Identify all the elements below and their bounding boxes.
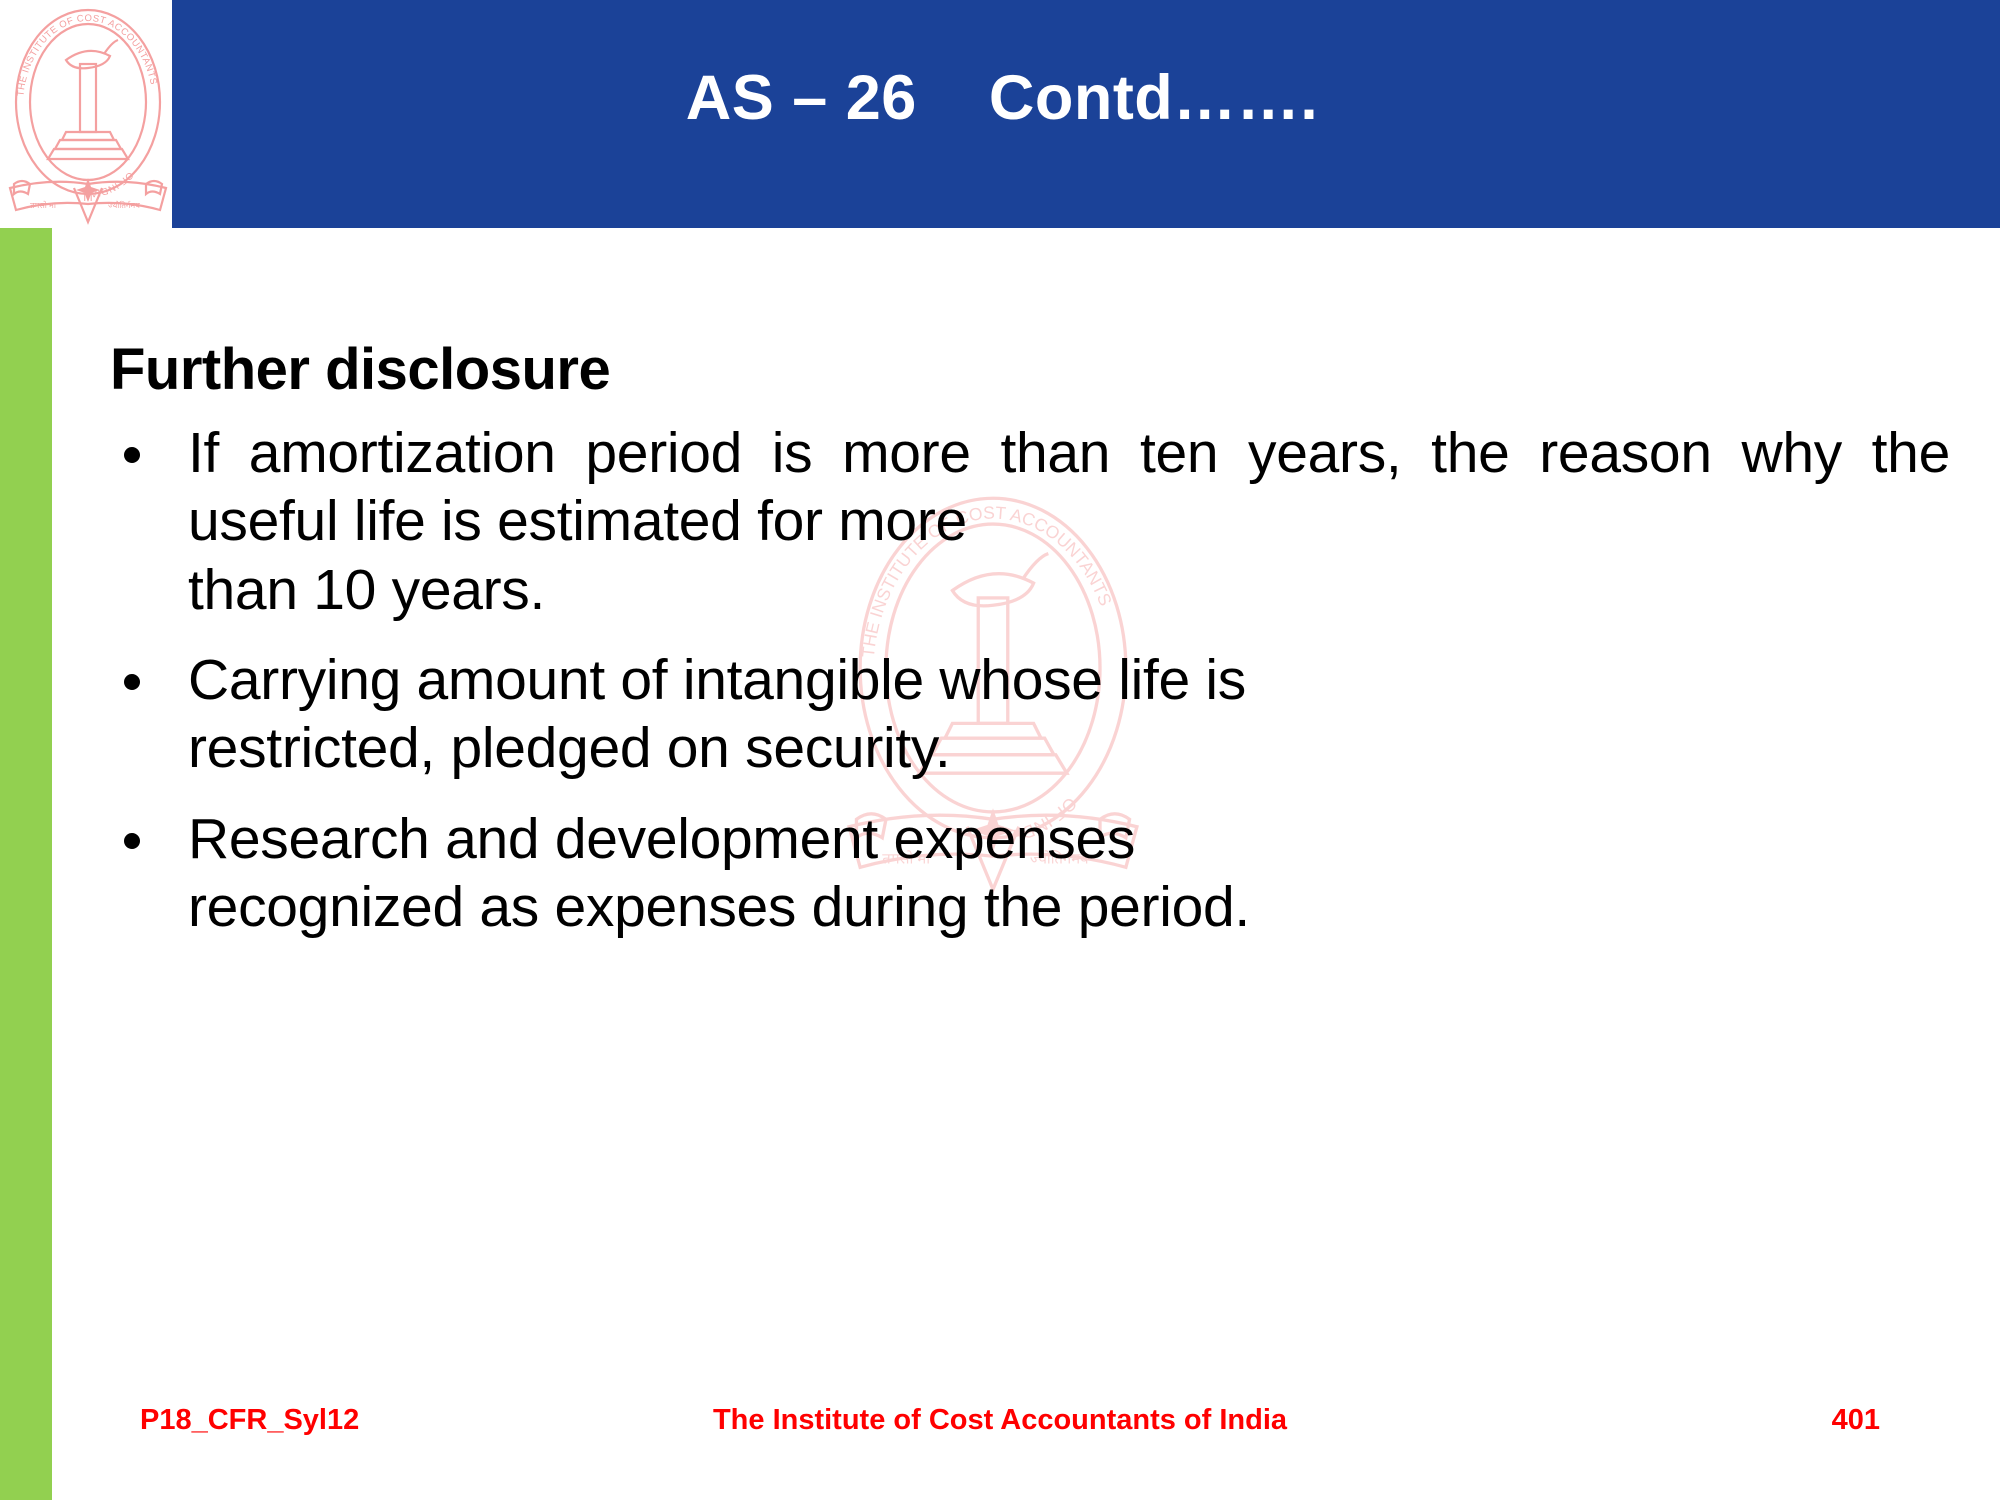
slide-title: AS – 26 Contd……. [172,62,1832,134]
green-accent-bar [0,228,52,1500]
list-item: Carrying amount of intangible whose life… [110,646,1950,783]
bullet-dot-icon [124,833,140,849]
bullet-line: Research and development expenses [188,807,1135,871]
section-heading: Further disclosure [110,340,1950,401]
bullet-text: Carrying amount of intangible whose life… [188,646,1950,783]
footer-institute-name: The Institute of Cost Accountants of Ind… [0,1404,2000,1437]
svg-text:ज्योतिर्गमय: ज्योतिर्गमय [108,200,140,210]
bullet-text: If amortization period is more than ten … [188,419,1950,624]
bullet-line: than 10 years. [188,556,1950,624]
bullet-line: If amortization period is more than ten … [188,421,1510,485]
slide-body: Further disclosure If amortization perio… [110,340,1950,964]
svg-text:तमसो मा: तमसो मा [30,200,57,210]
bullet-line: recognized as expenses during the period… [188,873,1950,941]
bullet-line: Carrying amount of intangible whose life… [188,648,1246,712]
bullet-dot-icon [124,447,140,463]
list-item: Research and development expenses recogn… [110,805,1950,942]
institute-logo: M तमसो मा ज्योतिर्गमय THE INSTITUTE OF C… [4,2,172,228]
footer: P18_CFR_Syl12 The Institute of Cost Acco… [0,1404,2000,1464]
list-item: If amortization period is more than ten … [110,419,1950,624]
bullet-dot-icon [124,674,140,690]
bullet-line: restricted, pledged on security. [188,714,1950,782]
slide-root: AS – 26 Contd……. [0,0,2000,1500]
bullet-text: Research and development expenses recogn… [188,805,1950,942]
svg-text:THE INSTITUTE OF COST ACCOUNTA: THE INSTITUTE OF COST ACCOUNTANTS [15,13,158,97]
footer-page-number: 401 [1832,1404,1880,1437]
